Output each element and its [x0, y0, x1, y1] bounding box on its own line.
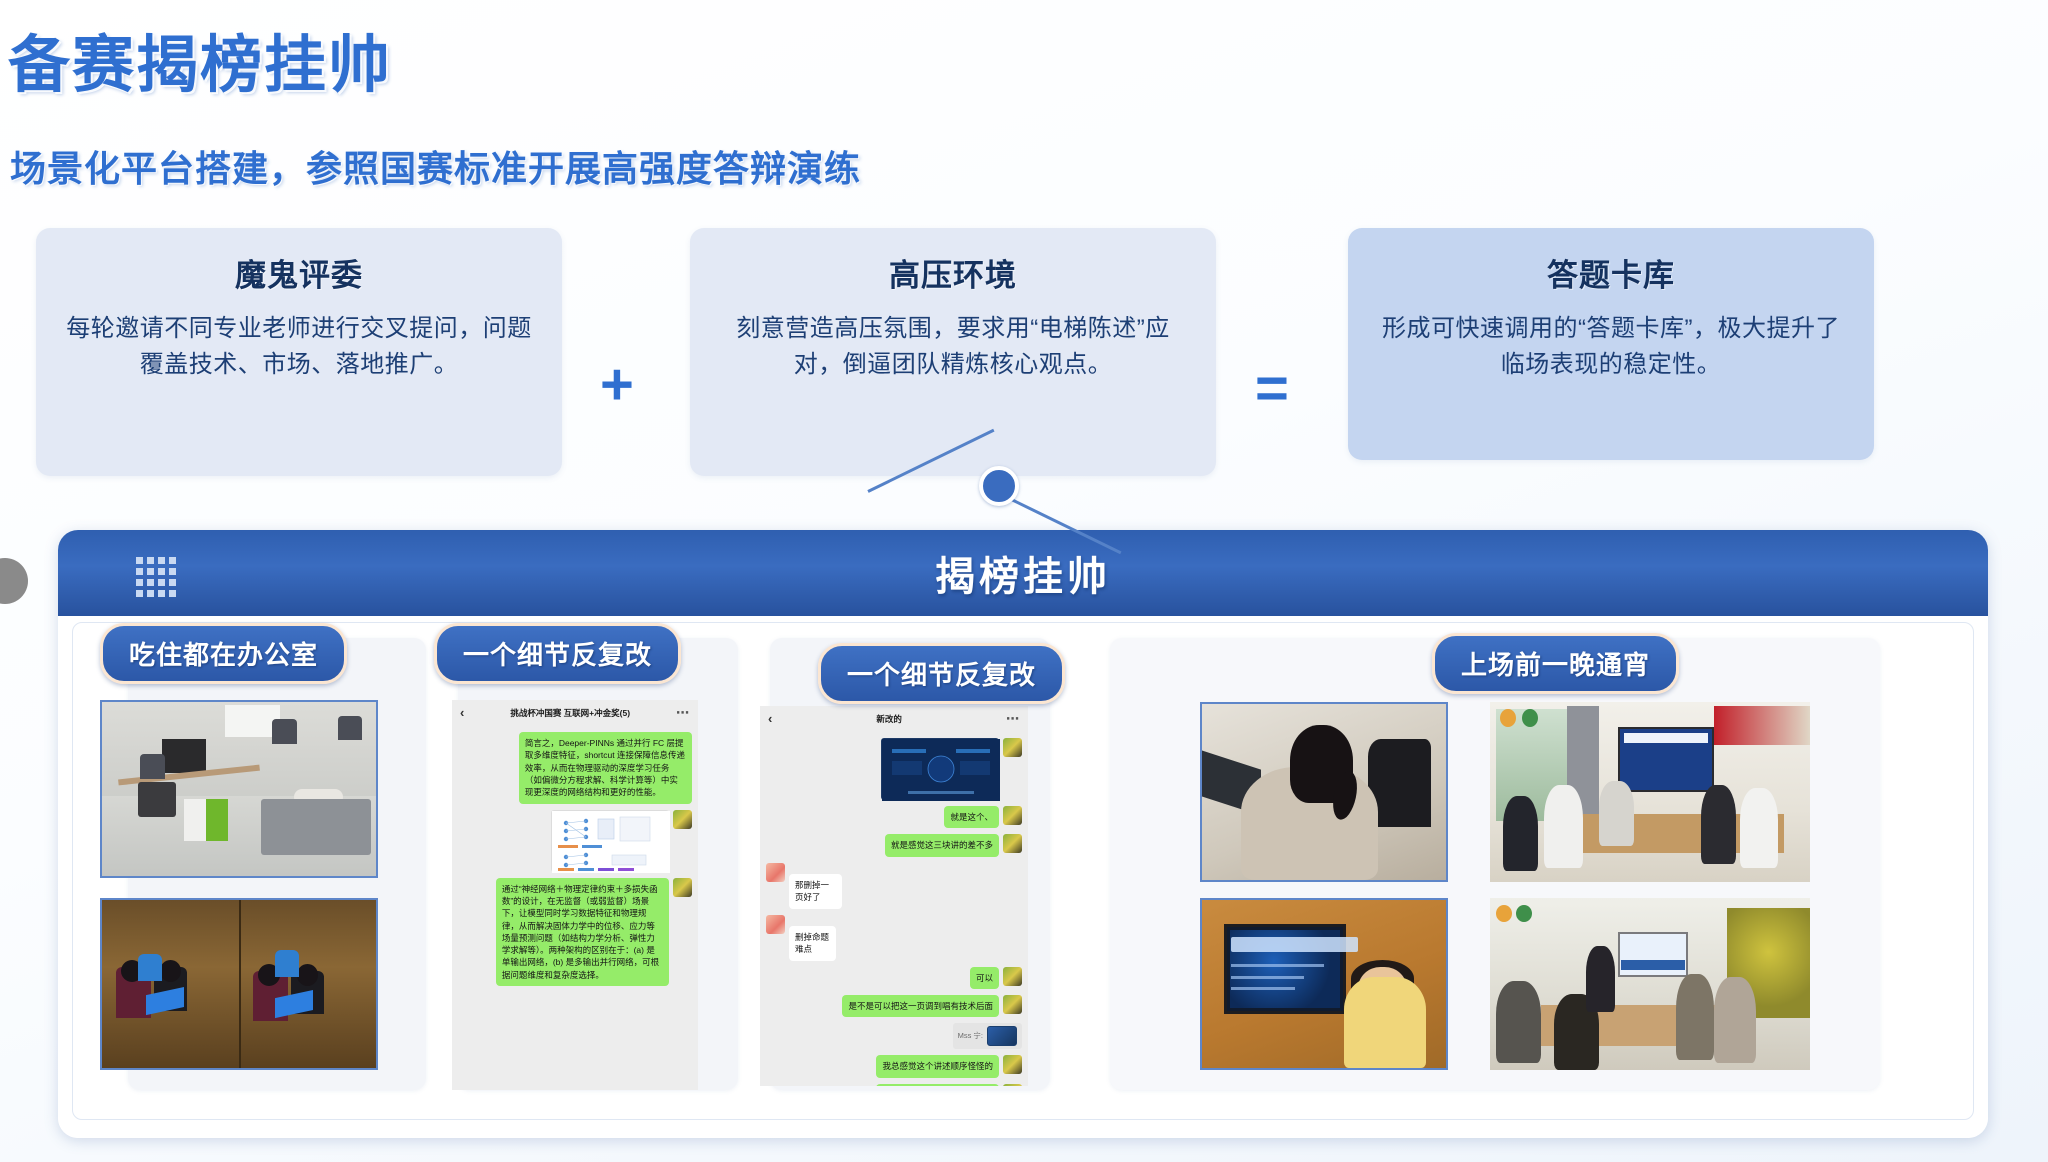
avatar: [1003, 806, 1022, 825]
wechat-screenshot-technical-discussion: ‹ 挑战杯冲国赛 互联网+冲金奖(5) ⋯ 简言之，Deeper-PINNs 通…: [452, 700, 698, 1090]
wechat-message: 可以: [766, 967, 1022, 989]
wechat-title-bar: ‹ 新改的 ⋯: [760, 706, 1028, 732]
wechat-bubble-text: 我总感觉这个讲述顺序怪怪的: [876, 1055, 999, 1077]
wechat-bubble-image[interactable]: [881, 738, 999, 800]
wechat-message: 就是这个、: [766, 806, 1022, 828]
concept-card-answer-bank: 答题卡库 形成可快速调用的“答题卡库”，极大提升了临场表现的稳定性。: [1348, 228, 1874, 460]
wechat-bubble-text: 通过“神经网络＋物理定律约束＋多损失函数”的设计，在无监督（或弱监督）场景下，让…: [496, 878, 669, 987]
wechat-bubble-text: 先讲完哪有技术，然后再讲的: [876, 1084, 999, 1086]
slide-root: 备赛揭榜挂帅 场景化平台搭建，参照国赛标准开展高强度答辩演练 魔鬼评委 每轮邀请…: [0, 0, 2048, 1162]
wechat-bubble-image[interactable]: [551, 810, 669, 872]
showcase-panel-title: 揭榜挂帅: [58, 544, 1988, 602]
photo-tag-live-at-office: 吃住都在办公室: [100, 623, 347, 684]
photo-meeting-room-defense: [1490, 702, 1810, 882]
photo-tag-detail-revision-1: 一个细节反复改: [434, 623, 681, 684]
photo-office-with-beds: [100, 700, 378, 878]
avatar: [766, 863, 785, 882]
left-edge-dot: [0, 558, 28, 604]
photo-meeting-room-review: [1490, 898, 1810, 1070]
more-dots-icon[interactable]: ⋯: [676, 704, 690, 723]
concept-card-body: 刻意营造高压氛围，要求用“电梯陈述”应对，倒逼团队精炼核心观点。: [716, 311, 1190, 384]
wechat-title-bar: ‹ 挑战杯冲国赛 互联网+冲金奖(5) ⋯: [452, 700, 698, 726]
wechat-message-meta: [789, 863, 861, 872]
avatar: [1003, 834, 1022, 853]
concept-card-title: 魔鬼评委: [62, 250, 536, 295]
avatar: [673, 878, 692, 897]
showcase-panel-header: 揭榜挂帅: [58, 530, 1988, 616]
wechat-chat-title: 挑战杯冲国赛 互联网+冲金奖(5): [464, 707, 676, 719]
concept-card-row: 魔鬼评委 每轮邀请不同专业老师进行交叉提问，问题覆盖技术、市场、落地推广。 高压…: [0, 228, 2048, 480]
concept-card-title: 高压环境: [716, 250, 1190, 295]
concept-card-body: 每轮邀请不同专业老师进行交叉提问，问题覆盖技术、市场、落地推广。: [62, 311, 536, 384]
avatar: [1003, 995, 1022, 1014]
equals-operator-icon: =: [1255, 360, 1289, 418]
wechat-bubble-text: 可以: [970, 967, 999, 989]
wechat-message: 是不是可以把这一页调到唱有技术后面: [766, 995, 1022, 1017]
file-thumbnail-icon: [987, 1026, 1017, 1046]
wechat-bubble-text: 简言之，Deeper-PINNs 通过并行 FC 层提取多维度特征，shortc…: [519, 732, 692, 804]
wechat-message-meta: [789, 915, 852, 924]
wechat-message: [766, 738, 1022, 800]
concept-card-body: 形成可快速调用的“答题卡库”，极大提升了临场表现的稳定性。: [1374, 311, 1848, 384]
more-dots-icon[interactable]: ⋯: [1006, 710, 1020, 729]
presentation-slide-icon: [882, 739, 1000, 801]
wechat-message: 就是感觉这三块讲的差不多: [766, 834, 1022, 856]
wechat-message: 删掉命题难点: [766, 915, 1022, 961]
wechat-bubble-text: 删掉命题难点: [789, 926, 836, 961]
photo-night-study-session: [100, 898, 378, 1070]
avatar: [1003, 738, 1022, 757]
wechat-message: 那删掉一页好了: [766, 863, 1022, 909]
dot-grid-icon: [136, 557, 176, 597]
photo-tag-detail-revision-2: 一个细节反复改: [818, 643, 1065, 704]
photo-rehearsal-presentation: [1200, 898, 1448, 1070]
avatar: [766, 915, 785, 934]
wechat-message: 我总感觉这个讲述顺序怪怪的: [766, 1055, 1022, 1077]
connector-node-circle: [979, 466, 1019, 506]
wechat-bubble-text: 那删掉一页好了: [789, 874, 842, 909]
concept-card-title: 答题卡库: [1374, 250, 1848, 295]
wechat-message-list: 简言之，Deeper-PINNs 通过并行 FC 层提取多维度特征，shortc…: [452, 726, 698, 996]
wechat-file-message[interactable]: Mss 宁:: [953, 1023, 1022, 1049]
concept-card-high-pressure: 高压环境 刻意营造高压氛围，要求用“电梯陈述”应对，倒逼团队精炼核心观点。: [690, 228, 1216, 476]
wechat-file-sender: Mss 宁:: [958, 1031, 983, 1042]
wechat-message: 先讲完哪有技术，然后再讲的: [766, 1084, 1022, 1086]
wechat-bubble-text: 就是感觉这三块讲的差不多: [885, 834, 999, 856]
avatar: [1003, 1084, 1022, 1086]
avatar: [1003, 967, 1022, 986]
avatar: [673, 810, 692, 829]
wechat-message-list: 就是这个、 就是感觉这三块讲的差不多 那删掉一页好了 删掉命题难点: [760, 732, 1028, 1086]
wechat-bubble-text: 是不是可以把这一页调到唱有技术后面: [842, 995, 999, 1017]
wechat-screenshot-slide-revisions: ‹ 新改的 ⋯: [760, 706, 1028, 1086]
wechat-message: 简言之，Deeper-PINNs 通过并行 FC 层提取多维度特征，shortc…: [458, 732, 692, 804]
network-diagram-icon: [552, 811, 670, 873]
concept-card-devil-judges: 魔鬼评委 每轮邀请不同专业老师进行交叉提问，问题覆盖技术、市场、落地推广。: [36, 228, 562, 476]
plus-operator-icon: +: [600, 356, 634, 414]
page-subtitle: 场景化平台搭建，参照国赛标准开展高强度答辩演练: [10, 140, 861, 192]
photo-late-night-laptop: [1200, 702, 1448, 882]
wechat-message: [458, 810, 692, 872]
wechat-bubble-text: 就是这个、: [944, 806, 999, 828]
wechat-first-message-label: 新改的: [772, 713, 1006, 725]
wechat-message: 通过“神经网络＋物理定律约束＋多损失函数”的设计，在无监督（或弱监督）场景下，让…: [458, 878, 692, 987]
avatar: [1003, 1055, 1022, 1074]
photo-tag-allnighter: 上场前一晚通宵: [1432, 633, 1679, 694]
page-title: 备赛揭榜挂帅: [8, 14, 392, 104]
